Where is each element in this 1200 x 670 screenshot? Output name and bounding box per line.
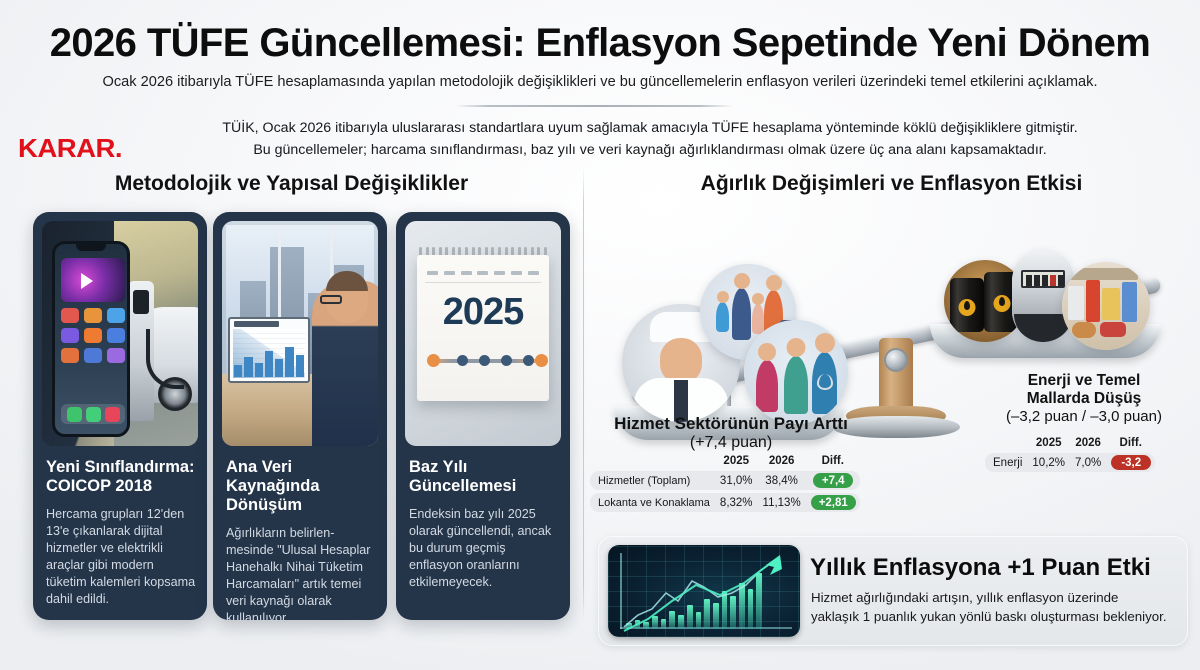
scale-pivot-icon: [884, 348, 908, 372]
services-block-title: Hizmet Sektörünün Payı Arttı: [586, 414, 876, 434]
info-card: Yeni Sınıflandırma: COICOP 2018 Hercama …: [33, 212, 207, 620]
cell-2025: 31,0%: [715, 471, 758, 490]
info-card-text: Hercama grupları 12'den 13'e çıkanlarak …: [46, 506, 196, 607]
row-label: Enerji: [985, 453, 1027, 472]
energy-block-title: Enerji ve Temel Mallarda Düşüş: [966, 372, 1200, 409]
status-badge: +7,4: [813, 473, 853, 488]
page-title: 2026 TÜFE Güncellemesi: Enflasyon Sepeti…: [0, 22, 1200, 64]
cell-2026: 38,4%: [758, 471, 806, 490]
header-lead-line-1: TÜİK, Ocak 2026 itibarıyla uluslararası …: [110, 117, 1190, 139]
col-diff: Diff.: [806, 455, 860, 468]
groceries-icon: [1062, 262, 1150, 350]
info-card-heading: Yeni Sınıflandırma: COICOP 2018: [46, 458, 196, 496]
col-2025: 2025: [1027, 437, 1070, 450]
impact-highlight-panel: Yıllık Enflasyona +1 Puan Etki Hizmet ağ…: [598, 536, 1188, 646]
table-row: Lokanta ve Konaklama 8,32% 11,13% +2,81: [590, 493, 860, 512]
energy-title-line-2: Mallarda Düşüş: [966, 390, 1200, 408]
impact-text: Hizmet ağırlığındaki artışın, yıllık enf…: [811, 588, 1181, 627]
col-2026: 2026: [758, 455, 806, 468]
page-subtitle: Ocak 2026 itibarıyla TÜFE hesaplamasında…: [0, 74, 1200, 90]
energy-block-subtitle: (–3,2 puan / –3,0 puan): [966, 408, 1200, 425]
karar-logo: KARAR.: [18, 133, 122, 164]
calendar-2025-photo: 2025: [405, 221, 561, 446]
calendar-year-label: 2025: [417, 291, 549, 334]
data-analyst-at-monitors-photo: [222, 221, 378, 446]
info-card-body: Yeni Sınıflandırma: COICOP 2018 Hercama …: [46, 458, 196, 608]
cell-2026: 11,13%: [758, 493, 806, 512]
info-card-heading: Baz Yılı Güncellemesi: [409, 458, 559, 496]
healthcare-workers-icon: [744, 320, 848, 424]
status-badge: -3,2: [1111, 455, 1151, 470]
col-2026: 2026: [1070, 437, 1106, 450]
services-weights-table: 2025 2026 Diff. Hizmetler (Toplam) 31,0%…: [590, 452, 860, 515]
col-label: [985, 437, 1027, 450]
info-card-heading: Ana Veri Kaynağında Dönüşüm: [226, 458, 376, 515]
cell-2025: 10,2%: [1027, 453, 1070, 472]
info-card-body: Ana Veri Kaynağında Dönüşüm Ağırlıkların…: [226, 458, 376, 620]
info-card-text: Ağırlıkların belirlen-mesinde "Ulusal He…: [226, 525, 376, 620]
rising-stock-chart-photo: [608, 545, 800, 637]
infographic-root: 2026 TÜFE Güncellemesi: Enflasyon Sepeti…: [0, 0, 1200, 670]
info-card-body: Baz Yılı Güncellemesi Endeksin baz yılı …: [409, 458, 559, 591]
vertical-divider: [583, 168, 584, 620]
cell-diff: +2,81: [806, 493, 860, 512]
info-card: Ana Veri Kaynağında Dönüşüm Ağırlıkların…: [213, 212, 387, 620]
table-header-row: 2025 2026 Diff.: [985, 437, 1155, 450]
cell-2026: 7,0%: [1070, 453, 1106, 472]
energy-title-line-1: Enerji ve Temel: [966, 372, 1200, 390]
row-label: Lokanta ve Konaklama: [590, 493, 715, 512]
trend-line-icon: [608, 545, 800, 637]
header-lead-line-2: Bu güncellemeler; harcama sınıflandırmas…: [110, 139, 1190, 161]
section-title-right: Ağırlık Değişimleri ve Enflasyon Etkisi: [583, 172, 1200, 196]
cell-diff: -3,2: [1106, 453, 1155, 472]
section-title-left: Metodolojik ve Yapısal Değişiklikler: [0, 172, 583, 196]
info-card-text: Endeksin baz yılı 2025 olarak güncellend…: [409, 506, 559, 590]
table-row: Hizmetler (Toplam) 31,0% 38,4% +7,4: [590, 471, 860, 490]
cell-diff: +7,4: [806, 471, 860, 490]
cell-2025: 8,32%: [715, 493, 758, 512]
header-lead-paragraph: TÜİK, Ocak 2026 itibarıyla uluslararası …: [110, 117, 1190, 161]
col-2025: 2025: [715, 455, 758, 468]
col-diff: Diff.: [1106, 437, 1155, 450]
smartphone-and-electric-vehicle-photo: [42, 221, 198, 446]
impact-text-line-2: yaklaşık 1 puanlık yukan yönlü baskı olu…: [811, 607, 1181, 626]
impact-heading: Yıllık Enflasyona +1 Puan Etki: [810, 554, 1151, 582]
table-header-row: 2025 2026 Diff.: [590, 455, 860, 468]
table-row: Enerji 10,2% 7,0% -3,2: [985, 453, 1155, 472]
col-label: [590, 455, 715, 468]
header-divider: [455, 105, 733, 107]
status-badge: +2,81: [811, 495, 856, 510]
energy-weights-table: 2025 2026 Diff. Enerji 10,2% 7,0% -3,2: [985, 434, 1155, 475]
impact-text-line-1: Hizmet ağırlığındaki artışın, yıllık enf…: [811, 588, 1181, 607]
services-block-subtitle: (+7,4 puan): [586, 434, 876, 452]
info-card: 2025 Baz Yılı Güncellemesi Endeksin baz …: [396, 212, 570, 620]
row-label: Hizmetler (Toplam): [590, 471, 715, 490]
